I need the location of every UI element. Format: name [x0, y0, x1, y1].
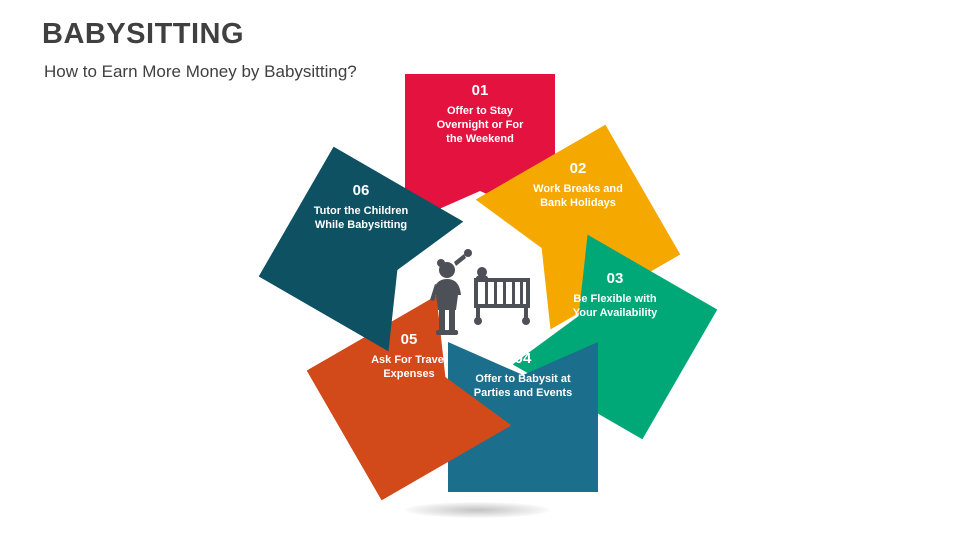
petal-number-05: 05	[401, 332, 418, 347]
petal-label-01: Offer to Stay Overnight or For the Weeke…	[427, 105, 533, 146]
petal-number-02: 02	[570, 161, 587, 176]
slide-canvas: BABYSITTING How to Earn More Money by Ba…	[0, 0, 960, 540]
petal-label-05: Ask For Travel Expenses	[356, 354, 462, 382]
petal-label-06: Tutor the Children While Babysitting	[308, 205, 414, 233]
petal-number-03: 03	[607, 271, 624, 286]
petal-label-02: Work Breaks and Bank Holidays	[525, 183, 631, 211]
babysitter-with-crib-icon	[418, 248, 542, 338]
petal-number-04: 04	[515, 351, 532, 366]
petal-number-06: 06	[353, 183, 370, 198]
petal-number-01: 01	[472, 83, 489, 98]
diagram-shadow	[405, 502, 550, 518]
petal-label-03: Be Flexible with Your Availability	[562, 293, 668, 321]
petal-diagram: 01 Offer to Stay Overnight or For the We…	[250, 70, 710, 530]
page-title: BABYSITTING	[42, 18, 244, 51]
